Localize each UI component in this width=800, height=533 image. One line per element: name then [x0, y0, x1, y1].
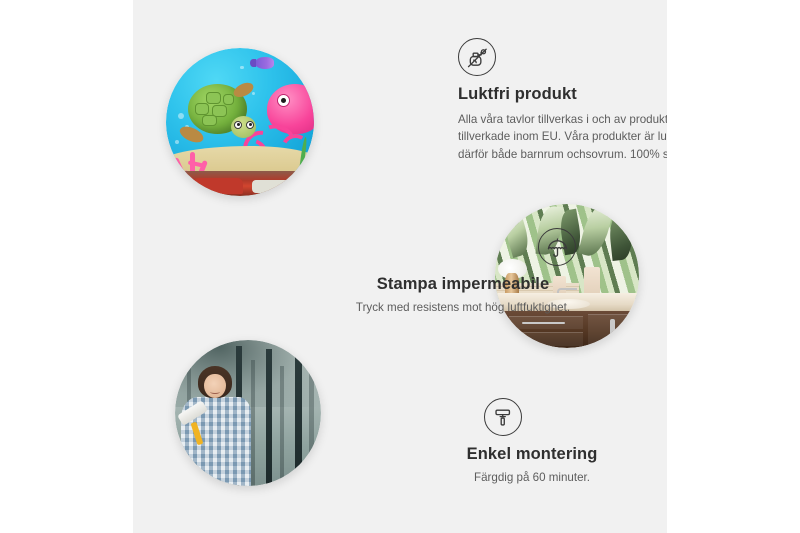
medallion-ocean: [166, 48, 314, 196]
umbrella-icon: [538, 228, 576, 266]
turtle-scute: [206, 92, 221, 104]
tree: [280, 366, 284, 486]
turtle-scute: [223, 94, 235, 105]
turtle-scute: [195, 103, 209, 115]
turtle-eye-right: [246, 121, 254, 129]
feature-easy-mounting: Enkel montering Färgdig på 60 minuter.: [401, 398, 663, 486]
feature-waterproof: Stampa impermeabile Tryck med resistens …: [330, 228, 596, 316]
turtle-eye-left: [234, 121, 242, 129]
feature-icon-wrap: [401, 398, 663, 436]
turtle-scute: [202, 115, 216, 126]
feature-icon-wrap: [330, 228, 596, 266]
infographic-panel: Luktfri produkt Alla våra tavlor tillver…: [133, 0, 667, 533]
fish-purple: [255, 57, 274, 69]
vanity-drawer-bottom: [509, 332, 583, 347]
drawer-handle-top: [522, 322, 564, 324]
feature-title: Luktfri produkt: [458, 85, 667, 105]
medallion-forest: [175, 340, 321, 486]
feature-title: Enkel montering: [401, 445, 663, 465]
leaf: [608, 211, 634, 261]
tree: [295, 355, 302, 486]
bubble-3: [240, 66, 244, 70]
feature-odour-free: Luktfri produkt Alla våra tavlor tillver…: [458, 38, 667, 164]
tree: [309, 372, 313, 486]
no-fragrance-bottle-icon: [458, 38, 496, 76]
forest-photo: [175, 340, 321, 486]
feature-body: Tryck med resistens mot hög luftfuktighe…: [330, 299, 596, 317]
paint-roller-icon: [484, 398, 522, 436]
feature-title: Stampa impermeabile: [330, 275, 596, 295]
tree: [266, 349, 273, 486]
ocean-bottom-photo-strip: [166, 171, 314, 196]
bubble-1: [178, 113, 184, 119]
infographic-page: Luktfri produkt Alla våra tavlor tillver…: [0, 0, 800, 533]
ocean-photo: [166, 48, 314, 196]
feature-body: Färgdig på 60 minuter.: [401, 469, 663, 487]
door-handle-right: [610, 319, 615, 338]
tree: [251, 360, 255, 486]
feature-body: Alla våra tavlor tillverkas i och av pro…: [458, 111, 667, 164]
